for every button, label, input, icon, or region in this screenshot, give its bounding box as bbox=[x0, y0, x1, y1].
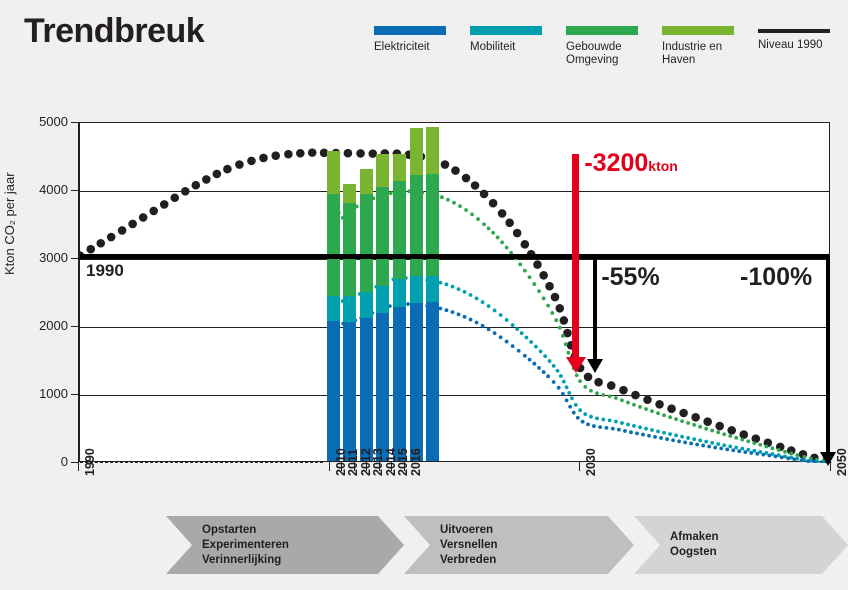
bar-segment bbox=[360, 318, 373, 461]
legend-item-mobiliteit: Mobiliteit bbox=[470, 26, 552, 54]
baseline-1990-line bbox=[80, 254, 829, 259]
legend-label: Mobiliteit bbox=[470, 41, 552, 54]
y-tick-label: 4000 bbox=[8, 182, 68, 197]
bar-segment bbox=[343, 184, 356, 202]
y-tick-label: 0 bbox=[8, 454, 68, 469]
phase-text-line: Versnellen bbox=[440, 538, 498, 553]
phase-chevron-icon bbox=[634, 516, 848, 574]
chart-area: Kton CO₂ per jaar 010002000300040005000 … bbox=[0, 100, 848, 520]
stacked-bar bbox=[376, 154, 389, 461]
legend-swatch-icon bbox=[470, 26, 542, 35]
phase-text-line: Verinnerlijking bbox=[202, 553, 289, 568]
x-tick-mark bbox=[78, 462, 79, 471]
bar-segment bbox=[343, 203, 356, 296]
bar-segment bbox=[343, 322, 356, 461]
y-tick-label: 2000 bbox=[8, 318, 68, 333]
y-tick-mark bbox=[71, 190, 78, 191]
phase-label: AfmakenOogsten bbox=[670, 530, 719, 560]
legend-label: Industrie en Haven bbox=[662, 41, 744, 67]
bar-segment bbox=[327, 296, 340, 321]
bar-segment bbox=[393, 154, 406, 181]
header: Trendbreuk ElektriciteitMobiliteitGebouw… bbox=[0, 0, 848, 100]
phase-timeline: OpstartenExperimenterenVerinnerlijkingUi… bbox=[0, 516, 848, 578]
phase-text-line: Opstarten bbox=[202, 523, 289, 538]
legend-item-industrie-en-haven: Industrie en Haven bbox=[662, 26, 744, 67]
pct-2030-arrow-shaft bbox=[593, 256, 597, 360]
legend-swatch-icon bbox=[662, 26, 734, 35]
phase-label: UitvoerenVersnellenVerbreden bbox=[440, 523, 498, 568]
phase-block: UitvoerenVersnellenVerbreden bbox=[404, 516, 634, 574]
legend-label: Elektriciteit bbox=[374, 41, 456, 54]
x-tick-mark bbox=[366, 462, 367, 471]
stacked-bar bbox=[410, 128, 423, 461]
phase-block: AfmakenOogsten bbox=[634, 516, 848, 574]
bar-segment bbox=[360, 169, 373, 195]
phase-text-line: Uitvoeren bbox=[440, 523, 498, 538]
phase-text-line: Verbreden bbox=[440, 553, 498, 568]
x-tick-mark bbox=[341, 462, 342, 471]
bar-segment bbox=[327, 194, 340, 296]
reduction-label: -3200kton bbox=[584, 149, 678, 178]
legend-swatch-icon bbox=[374, 26, 446, 35]
bar-segment bbox=[393, 181, 406, 279]
bar-segment bbox=[426, 276, 439, 302]
y-tick-label: 3000 bbox=[8, 250, 68, 265]
x-tick-mark bbox=[379, 462, 380, 471]
bar-segment bbox=[327, 321, 340, 461]
bar-segment bbox=[410, 276, 423, 303]
y-tick-mark bbox=[71, 326, 78, 327]
phase-text-line: Oogsten bbox=[670, 545, 719, 560]
legend-item-niveau-1990: Niveau 1990 bbox=[758, 26, 840, 52]
pct-2050-label: -100% bbox=[740, 263, 812, 292]
reduction-arrow-shaft bbox=[572, 154, 579, 358]
bar-segment bbox=[376, 187, 389, 286]
bar-segment bbox=[376, 313, 389, 461]
bar-segment bbox=[410, 175, 423, 276]
legend-swatch-icon bbox=[566, 26, 638, 35]
pct-2030-label: -55% bbox=[601, 263, 659, 292]
y-tick-label: 5000 bbox=[8, 114, 68, 129]
y-tick-mark bbox=[71, 122, 78, 123]
plot-area: -3200kton-55%-100% 1990 bbox=[78, 122, 830, 462]
bar-segment bbox=[360, 292, 373, 319]
x-tick-mark bbox=[354, 462, 355, 471]
zero-dashed-segment bbox=[80, 462, 323, 463]
phase-chevron-icon bbox=[404, 516, 634, 574]
legend-swatch-icon bbox=[758, 29, 830, 33]
y-tick-mark bbox=[71, 394, 78, 395]
pct-2030-arrow-head-icon bbox=[587, 359, 603, 373]
pct-2050-arrow-head-icon bbox=[820, 452, 836, 466]
legend-label: Niveau 1990 bbox=[758, 39, 840, 52]
x-tick-mark bbox=[329, 462, 330, 471]
phase-text-line: Experimenteren bbox=[202, 538, 289, 553]
y-tick-mark bbox=[71, 462, 78, 463]
x-tick-label: 2016 bbox=[409, 448, 423, 476]
bar-segment bbox=[426, 127, 439, 174]
x-tick-mark bbox=[391, 462, 392, 471]
phase-block: OpstartenExperimenterenVerinnerlijking bbox=[166, 516, 404, 574]
reduction-unit-label: kton bbox=[648, 158, 678, 174]
stacked-bar bbox=[360, 169, 373, 461]
pathway-svg bbox=[80, 123, 832, 463]
bar-segment bbox=[410, 128, 423, 175]
x-tick-label: 2030 bbox=[584, 448, 598, 476]
y-tick-label: 1000 bbox=[8, 386, 68, 401]
bar-segment bbox=[327, 151, 340, 194]
stacked-bar bbox=[343, 184, 356, 461]
x-tick-label: 2050 bbox=[835, 448, 848, 476]
page-title: Trendbreuk bbox=[24, 12, 204, 51]
bar-segment bbox=[343, 296, 356, 322]
phase-text-line: Afmaken bbox=[670, 530, 719, 545]
legend-label: Gebouwde Omgeving bbox=[566, 41, 648, 67]
stacked-bar bbox=[393, 154, 406, 461]
legend-item-gebouwde-omgeving: Gebouwde Omgeving bbox=[566, 26, 648, 67]
x-tick-mark bbox=[404, 462, 405, 471]
bar-segment bbox=[410, 303, 423, 461]
legend-item-elektriciteit: Elektriciteit bbox=[374, 26, 456, 54]
baseline-1990-label: 1990 bbox=[86, 261, 124, 281]
bar-segment bbox=[393, 279, 406, 308]
phase-label: OpstartenExperimenterenVerinnerlijking bbox=[202, 523, 289, 568]
bar-segment bbox=[360, 194, 373, 291]
y-tick-mark bbox=[71, 258, 78, 259]
x-tick-mark bbox=[830, 462, 831, 471]
bar-segment bbox=[376, 286, 389, 313]
bar-segment bbox=[426, 174, 439, 276]
chart-legend: ElektriciteitMobiliteitGebouwde Omgeving… bbox=[374, 26, 844, 86]
bar-segment bbox=[393, 307, 406, 461]
reduction-arrow-head-icon bbox=[566, 357, 586, 373]
pct-2050-arrow-shaft bbox=[826, 256, 830, 453]
bar-segment bbox=[426, 302, 439, 461]
x-tick-mark bbox=[579, 462, 580, 471]
stacked-bar bbox=[426, 127, 439, 461]
bar-segment bbox=[376, 154, 389, 187]
stacked-bar bbox=[327, 151, 340, 461]
